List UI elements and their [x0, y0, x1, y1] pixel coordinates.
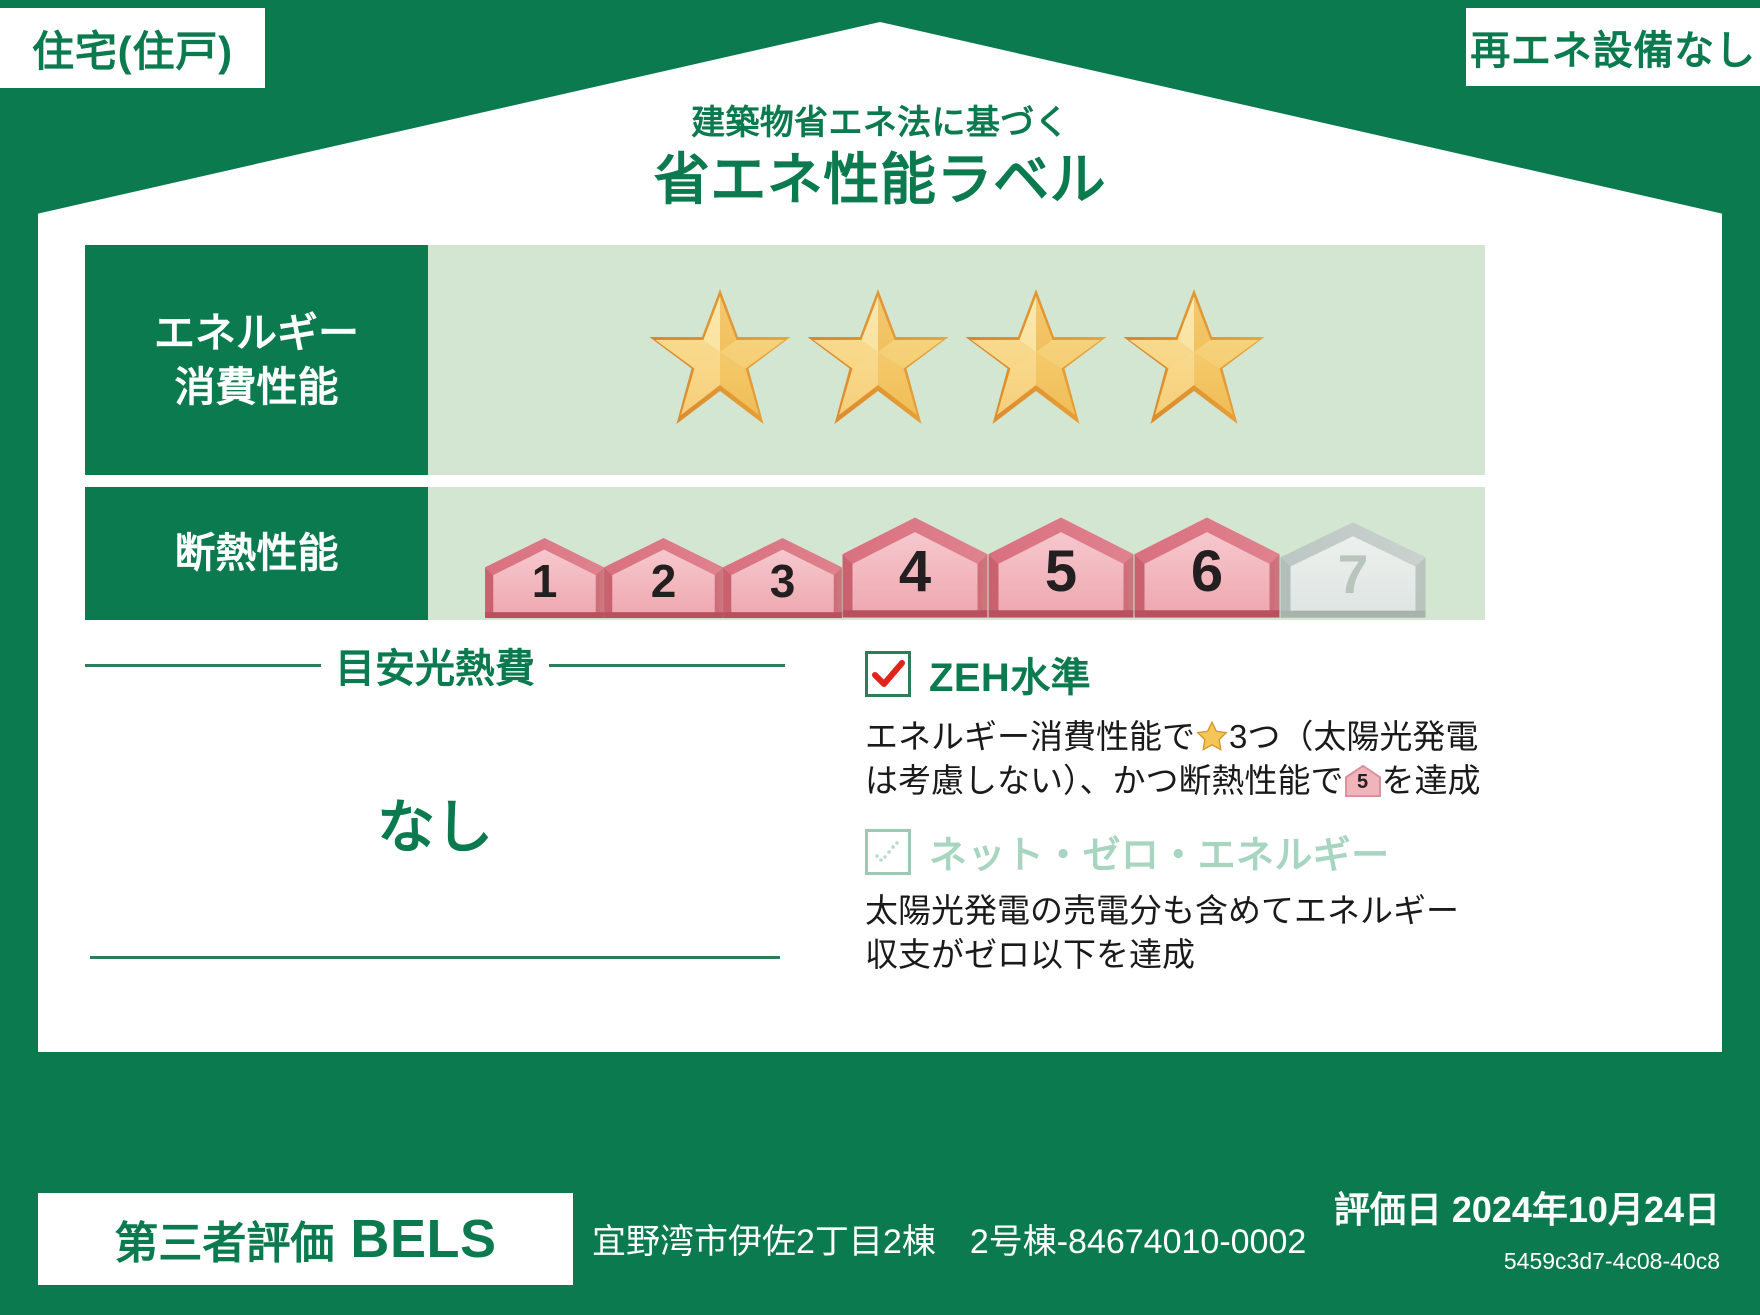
zeh-desc-line2-part2: を達成 [1382, 762, 1481, 799]
dotted-check-icon [868, 832, 908, 872]
energy-star-4 [1119, 286, 1269, 430]
insulation-grade-3: 3 [721, 536, 844, 620]
label-subtitle: 建築物省エネ法に基づく [0, 104, 1760, 143]
insulation-performance-label: 断熱性能 [85, 487, 428, 620]
rule-line-right [549, 664, 785, 667]
label-title-block: 建築物省エネ法に基づく 省エネ性能ラベル [0, 104, 1760, 211]
zeh-heading: ZEH水準 [865, 645, 1485, 703]
utility-cost-section: 目安光熱費 なし [85, 636, 785, 959]
zeh-desc-part2: 3つ（太陽光発電 [1229, 718, 1478, 755]
zeh-section: ZEH水準 エネルギー消費性能で 3つ（太陽光発電 は考慮しない）、かつ断熱性能… [865, 645, 1485, 976]
nze-title: ネット・ゼロ・エネルギー [929, 824, 1390, 879]
insulation-grade-4: 4 [840, 515, 990, 620]
inline-star-icon [1195, 720, 1229, 753]
zeh-desc-part1: エネルギー消費性能で [865, 718, 1195, 755]
energy-stars-area [428, 245, 1485, 475]
energy-performance-row: エネルギー 消費性能 [85, 245, 1485, 475]
insulation-grade-6: 6 [1132, 515, 1282, 620]
check-icon [868, 654, 908, 694]
insulation-performance-row: 断熱性能 1 [85, 487, 1485, 620]
insulation-grade-5: 5 [986, 515, 1136, 620]
insulation-label-text: 断熱性能 [175, 526, 339, 580]
energy-star-2 [803, 286, 953, 430]
property-address: 宜野湾市伊佐2丁目2棟 2号棟-84674010-0002 [592, 1214, 1306, 1263]
evaluation-id: 5459c3d7-4c08-40c8 [1504, 1248, 1720, 1275]
insulation-grade-1: 1 [483, 536, 606, 620]
badge-building-type: 住宅(住戸) [0, 8, 265, 88]
rule-line-left [85, 664, 321, 667]
energy-label-line1: エネルギー [154, 306, 359, 360]
nze-desc-line2: 収支がゼロ以下を達成 [865, 936, 1195, 973]
nze-checkbox[interactable] [865, 829, 911, 875]
bels-logo-text: BELS [350, 1208, 496, 1270]
badge-renewable-energy: 再エネ設備なし [1466, 8, 1760, 86]
zeh-title: ZEH水準 [929, 645, 1091, 703]
nze-desc-line1: 太陽光発電の売電分も含めてエネルギー [865, 892, 1459, 929]
energy-star-1 [645, 286, 795, 430]
label-footer: 第三者評価 BELS 宜野湾市伊佐2丁目2棟 2号棟-84674010-0002… [0, 1053, 1760, 1315]
third-party-evaluation-text: 第三者評価 [114, 1207, 334, 1271]
utility-cost-value: なし [85, 780, 785, 864]
bels-energy-label: 住宅(住戸) 再エネ設備なし 建築物省エネ法に基づく 省エネ性能ラベル エネルギ… [0, 0, 1760, 1315]
zeh-description: エネルギー消費性能で 3つ（太陽光発電 は考慮しない）、かつ断熱性能で 5 を達… [865, 715, 1485, 802]
inline-house-grade: 5 [1344, 764, 1382, 798]
utility-bottom-rule [90, 956, 780, 959]
inline-house-icon: 5 [1344, 764, 1382, 798]
insulation-grade-7: 7 [1278, 520, 1428, 620]
zeh-checkbox[interactable] [865, 651, 911, 697]
insulation-grade-2: 2 [602, 536, 725, 620]
insulation-grades-area: 1 2 [428, 487, 1485, 620]
energy-performance-label: エネルギー 消費性能 [85, 245, 428, 475]
page-title: 省エネ性能ラベル [0, 149, 1760, 211]
energy-label-line2: 消費性能 [175, 360, 339, 414]
evaluation-date: 評価日 2024年10月24日 [1334, 1181, 1720, 1233]
utility-cost-heading: 目安光熱費 [85, 636, 785, 694]
utility-cost-title: 目安光熱費 [335, 636, 535, 694]
nze-description: 太陽光発電の売電分も含めてエネルギー 収支がゼロ以下を達成 [865, 889, 1485, 976]
zeh-desc-line2-part1: は考慮しない）、かつ断熱性能で [865, 762, 1344, 799]
energy-star-3 [961, 286, 1111, 430]
bels-logo-box: 第三者評価 BELS [38, 1193, 573, 1285]
nze-heading: ネット・ゼロ・エネルギー [865, 824, 1485, 879]
